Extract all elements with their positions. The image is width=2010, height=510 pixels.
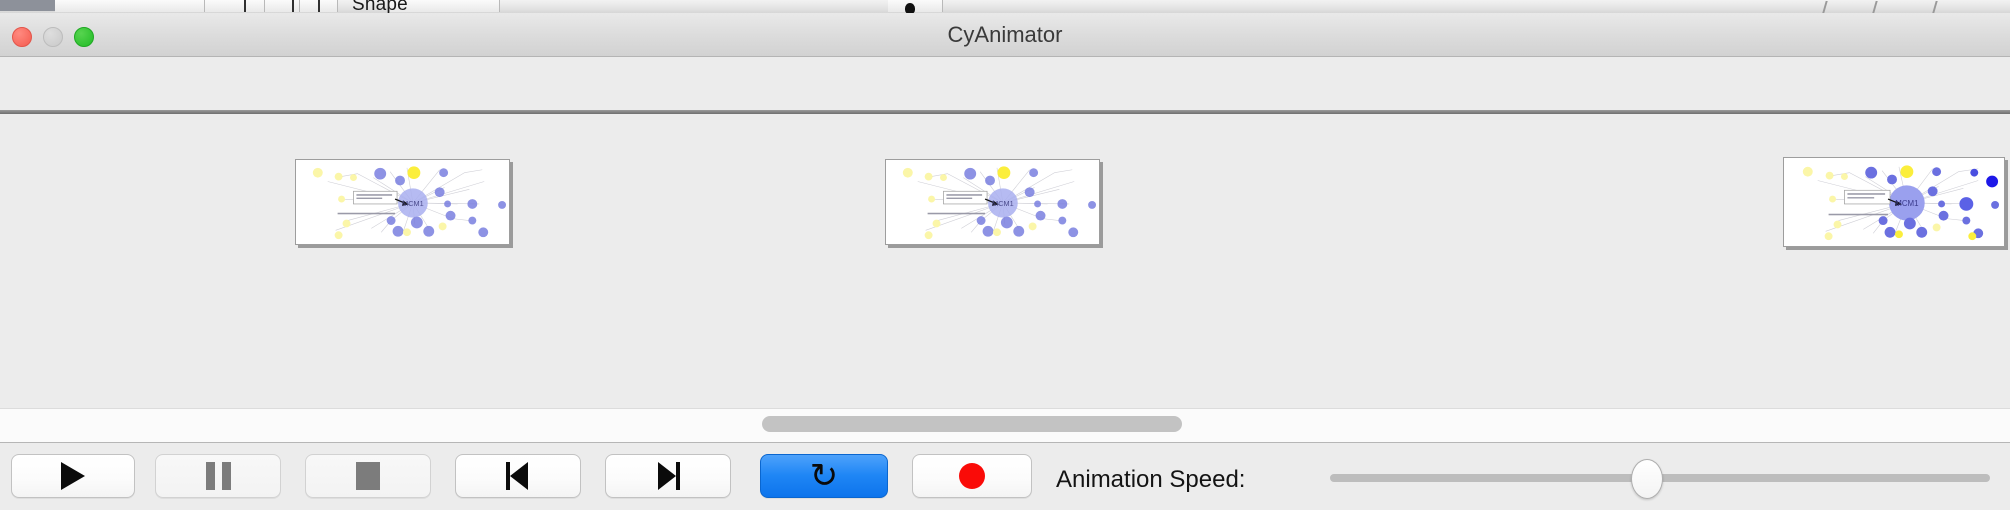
timeline-scrollbar[interactable] (0, 408, 2010, 443)
frame-node-label: MCM1 (1895, 199, 1918, 208)
title-bar: CyAnimator (0, 13, 2010, 57)
traffic-light-group (12, 27, 94, 47)
network-graph-preview: MCM1 (296, 160, 509, 244)
background-app-slash (1822, 1, 1827, 13)
network-graph-preview: MCM1 (1784, 158, 2004, 246)
animation-speed-label: Animation Speed: (1056, 466, 1245, 494)
close-window-icon[interactable] (12, 27, 32, 47)
play-button[interactable] (11, 454, 135, 498)
cyanimator-window: Shape CyAnimator Clear All Fram (0, 0, 2010, 510)
skip-back-icon (504, 462, 532, 490)
background-app-tick (292, 0, 294, 12)
frame-thumbnail[interactable]: MCM1 (295, 159, 510, 245)
previous-frame-button[interactable] (455, 454, 581, 498)
background-app-cell (265, 0, 300, 12)
play-icon (61, 462, 85, 490)
background-app-slash (1932, 1, 1937, 13)
next-frame-button[interactable] (605, 454, 731, 498)
background-app-tick (318, 0, 320, 12)
loop-toggle-button[interactable]: ↻ (760, 454, 888, 498)
background-app-cell (55, 0, 205, 12)
pause-button[interactable] (155, 454, 281, 498)
background-app-label: Shape (352, 0, 408, 13)
frame-node-label: MCM1 (992, 199, 1014, 208)
background-app-strip: Shape (0, 0, 2010, 13)
animation-speed-slider[interactable] (1330, 474, 1990, 482)
timeline-panel[interactable]: MCM1 (0, 114, 2010, 408)
minimize-window-icon[interactable] (43, 27, 63, 47)
frame-thumbnail[interactable]: MCM1 (885, 159, 1100, 245)
pause-icon (206, 462, 231, 490)
background-app-dark-block (0, 0, 55, 11)
animation-speed-thumb[interactable] (1631, 459, 1663, 499)
playback-bar: ↻ Animation Speed: (0, 444, 2010, 510)
window-title: CyAnimator (0, 13, 2010, 57)
zoom-window-icon[interactable] (74, 27, 94, 47)
timeline-scrollbar-thumb[interactable] (762, 416, 1182, 432)
record-button[interactable] (912, 454, 1032, 498)
network-graph-preview: MCM1 (886, 160, 1099, 244)
frame-thumbnail[interactable]: MCM1 (1783, 157, 2005, 247)
background-app-slash (1872, 1, 1877, 13)
background-app-cell (205, 0, 265, 12)
loop-icon: ↻ (810, 459, 839, 493)
stop-icon (356, 462, 380, 490)
record-icon (959, 463, 985, 489)
skip-forward-icon (654, 462, 682, 490)
stop-button[interactable] (305, 454, 431, 498)
background-app-cursor (905, 3, 915, 13)
frame-toolbar: Clear All Frames (0, 57, 2010, 110)
background-app-tick (244, 0, 246, 12)
frame-node-label: MCM1 (402, 199, 424, 208)
background-app-cell (888, 0, 943, 12)
